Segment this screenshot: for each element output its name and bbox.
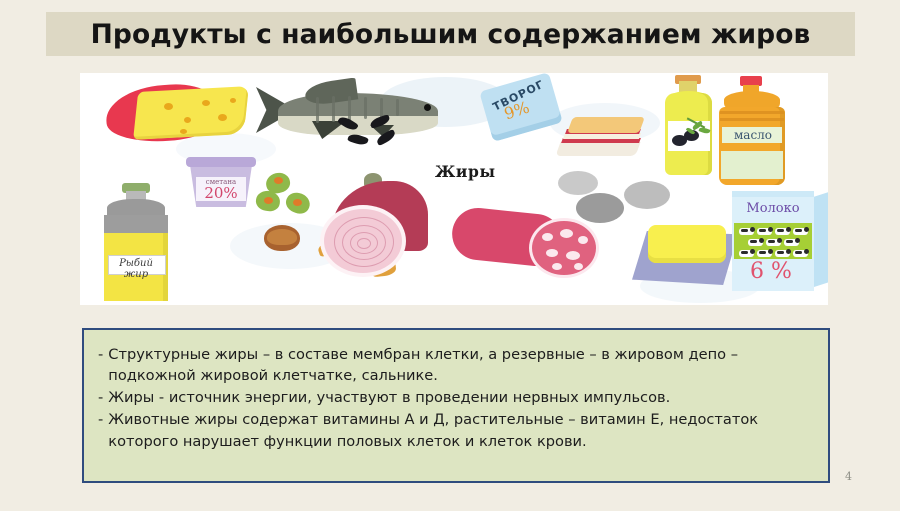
fish-stripe — [396, 99, 399, 116]
salami-fat-spot — [566, 251, 580, 260]
page-number: 4 — [845, 470, 852, 483]
cow-icon — [793, 250, 808, 257]
butter-stick — [648, 225, 726, 263]
salami-fat-spot — [546, 249, 558, 257]
textbox-content: - Структурные жиры – в составе мембран к… — [84, 330, 828, 452]
fish-stripe — [316, 97, 319, 123]
milk-carton-label: Молоко — [736, 201, 810, 216]
walnut-kernel — [267, 229, 297, 245]
cow-icon — [775, 228, 790, 235]
pistachio-detail — [274, 177, 283, 184]
milk-fat-value: 6 % — [734, 259, 808, 284]
cow-icon — [748, 239, 763, 246]
salami-fat-spot — [574, 263, 583, 270]
salami-fat-spot — [542, 233, 553, 241]
milk-carton-side — [814, 191, 828, 287]
cheese-hole — [230, 98, 236, 103]
cheese-hole — [184, 117, 191, 123]
description-textbox: - Структурные жиры – в составе мембран к… — [82, 328, 830, 483]
cow-icon — [757, 228, 772, 235]
ham-spiral — [357, 238, 371, 249]
fats-label: Жиры — [435, 162, 496, 181]
bullet-text: Жиры - источник энергии, участвуют в про… — [108, 387, 810, 408]
fish-stripe — [332, 96, 335, 122]
yogurt-lid — [186, 157, 256, 167]
oil-bottle-label-text: масло — [725, 128, 781, 142]
bullet-dash: - — [98, 344, 103, 386]
salami-fat-spot — [578, 236, 588, 244]
cow-icon — [739, 250, 754, 257]
fish-eye — [424, 104, 431, 111]
bullet-item: - Животные жиры содержат витамины А и Д,… — [98, 409, 810, 451]
slide: Продукты с наибольшим содержанием жиров — [0, 0, 900, 511]
bullet-dash: - — [98, 409, 103, 451]
fish-oil-label-text: Рыбий жир — [110, 258, 162, 280]
grey-oval — [576, 193, 624, 223]
title-bar: Продукты с наибольшим содержанием жиров — [46, 12, 855, 56]
cow-icon — [775, 250, 790, 257]
yogurt-fat-value: 20% — [196, 184, 246, 202]
cow-icon — [757, 250, 772, 257]
cheese-hole — [164, 103, 173, 110]
grey-oval — [624, 181, 670, 209]
bullet-item: - Жиры - источник энергии, участвуют в п… — [98, 387, 810, 408]
cheese-hole — [218, 114, 227, 121]
salami-fat-spot — [552, 263, 562, 270]
cheese-hole — [202, 100, 210, 106]
cheese-hole — [180, 129, 187, 134]
sandwich-bottom-bread — [555, 142, 640, 156]
sandwich-top-bread — [567, 117, 645, 133]
cow-icon — [784, 239, 799, 246]
salami-fat-spot — [560, 229, 573, 238]
cow-icon — [739, 228, 754, 235]
cheese-wedge — [133, 86, 249, 140]
fish-stripe — [364, 97, 367, 119]
cow-icon — [793, 228, 808, 235]
bullet-text: Структурные жиры – в составе мембран кле… — [108, 344, 810, 386]
oil-bottle-rib — [720, 111, 784, 114]
oil-bottle-rib — [720, 118, 784, 121]
page-title: Продукты с наибольшим содержанием жиров — [46, 19, 855, 50]
bullet-text: Животные жиры содержат витамины А и Д, р… — [108, 409, 810, 451]
pistachio-detail — [264, 197, 273, 204]
oil-bottle-label-bottom — [721, 151, 783, 179]
bullet-item: - Структурные жиры – в составе мембран к… — [98, 344, 810, 386]
illustration-panel: ТВОРОГ 9% масло сметана 2 — [80, 73, 828, 305]
bullet-dash: - — [98, 387, 103, 408]
pistachio-detail — [293, 199, 302, 206]
cow-icon — [766, 239, 781, 246]
grey-oval — [558, 171, 598, 195]
